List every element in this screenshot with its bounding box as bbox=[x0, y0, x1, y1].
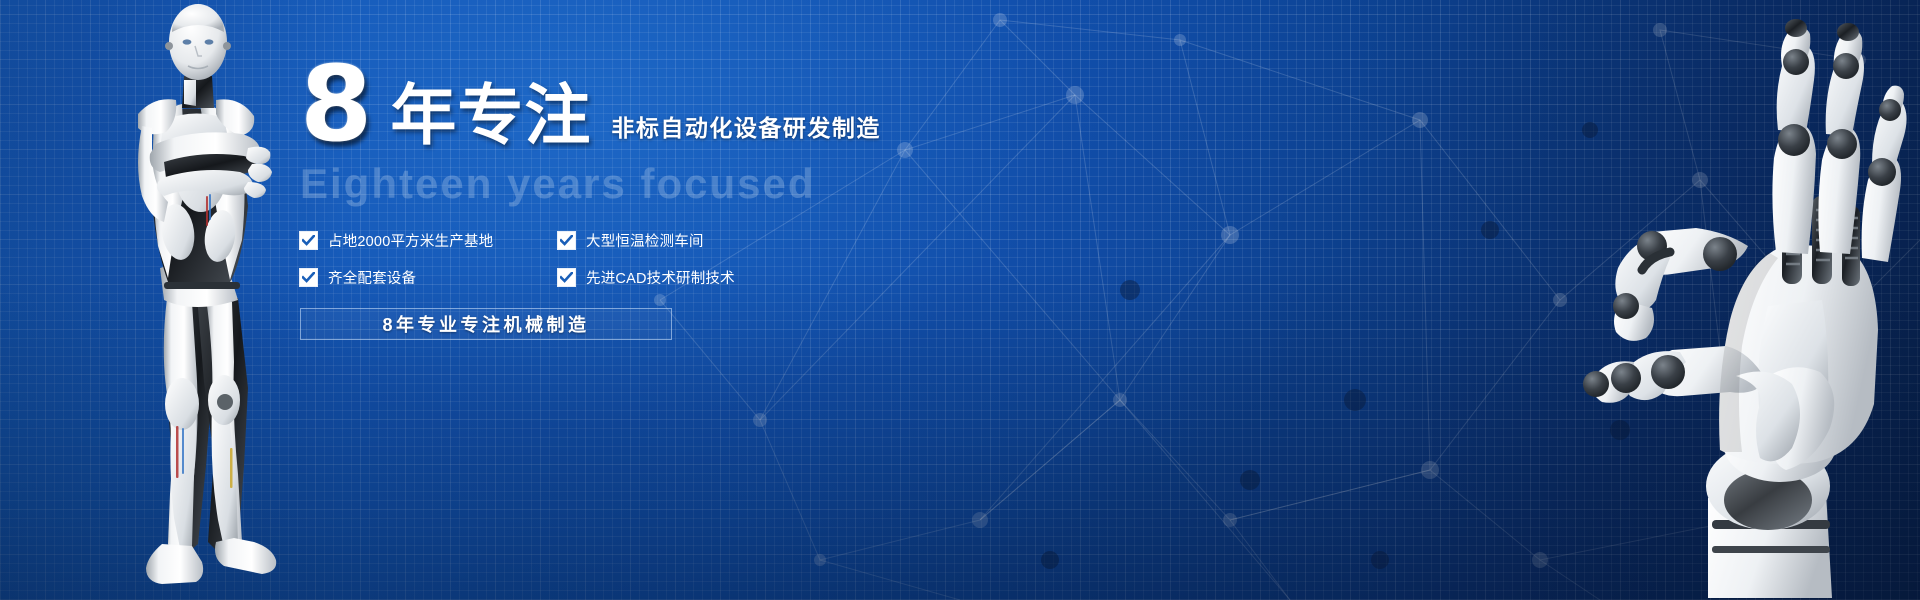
bullet-label: 齐全配套设备 bbox=[328, 267, 416, 288]
cta-label: 8年专业专注机械制造 bbox=[382, 311, 589, 337]
bullet-label: 先进CAD技术研制技术 bbox=[586, 267, 735, 288]
cta-banner-box[interactable]: 8年专业专注机械制造 bbox=[300, 308, 672, 340]
humanoid-robot-figure bbox=[72, 0, 312, 600]
middle-finger bbox=[1772, 19, 1816, 254]
check-icon bbox=[300, 232, 317, 249]
subheadline: 非标自动化设备研发制造 bbox=[611, 109, 881, 152]
headline-row: 8 年专注 非标自动化设备研发制造 bbox=[300, 60, 920, 152]
bullet-label: 大型恒温检测车间 bbox=[586, 230, 704, 251]
bullet-equipment: 齐全配套设备 bbox=[300, 267, 558, 288]
check-icon bbox=[558, 269, 575, 286]
index-finger bbox=[1613, 228, 1748, 341]
headline-chinese: 年专注 bbox=[390, 82, 591, 152]
pinky-finger bbox=[1862, 86, 1907, 262]
ghost-english-text: Eighteen years focused bbox=[300, 160, 920, 208]
promo-banner: 8 年专注 非标自动化设备研发制造 Eighteen years focused… bbox=[0, 0, 1920, 600]
check-icon bbox=[558, 232, 575, 249]
robotic-hand-figure bbox=[1530, 0, 1920, 600]
bullet-cad: 先进CAD技术研制技术 bbox=[558, 267, 920, 288]
headline-number: 8 bbox=[300, 58, 370, 152]
check-icon bbox=[300, 269, 317, 286]
banner-text-block: 8 年专注 非标自动化设备研发制造 Eighteen years focused… bbox=[300, 60, 920, 340]
bullet-lab: 大型恒温检测车间 bbox=[558, 230, 920, 251]
bullet-label: 占地2000平方米生产基地 bbox=[328, 230, 493, 251]
feature-bullet-list: 占地2000平方米生产基地 大型恒温检测车间 齐全配套设备 先进CAD技术研制技… bbox=[300, 230, 920, 288]
bullet-area: 占地2000平方米生产基地 bbox=[300, 230, 558, 251]
